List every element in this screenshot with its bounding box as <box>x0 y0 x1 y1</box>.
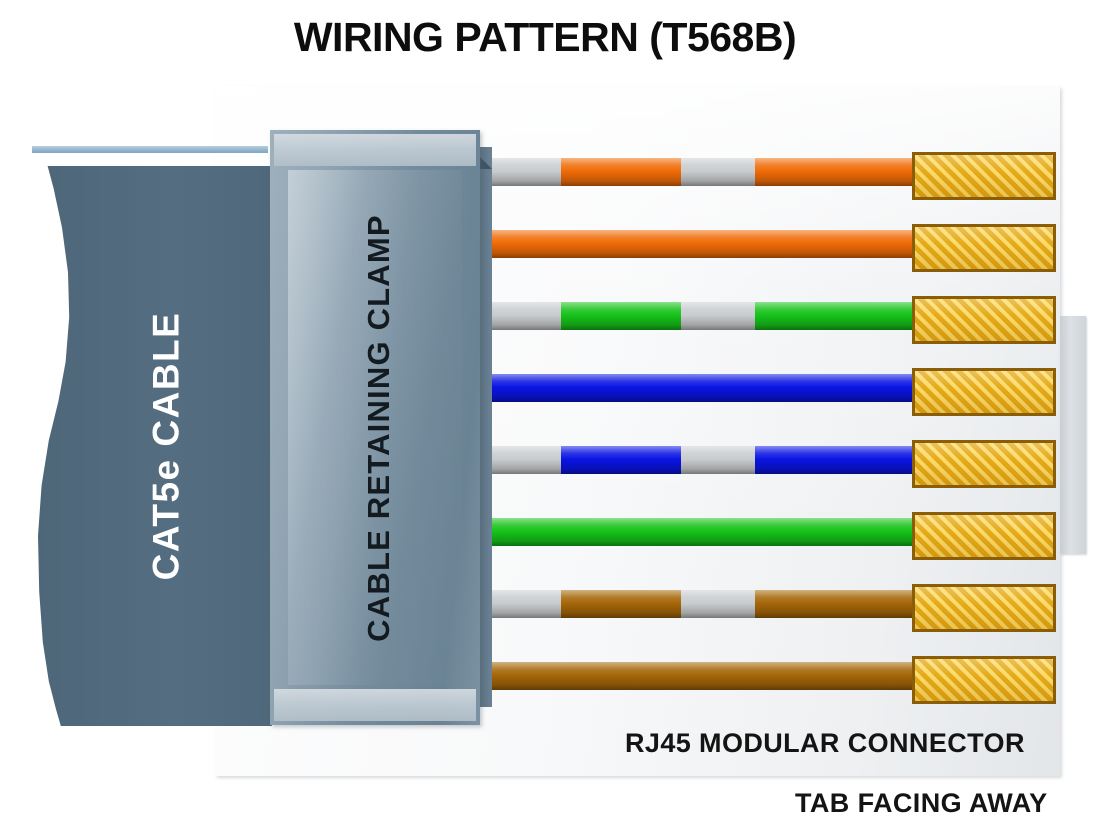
pad-sheen <box>915 587 1053 629</box>
wire-stripe-band-2 <box>755 590 913 618</box>
pad-sheen <box>915 443 1053 485</box>
wire-pin-7 <box>492 590 912 618</box>
gold-contact-pad-pin-7 <box>912 584 1056 632</box>
cable-top-highlight <box>32 146 268 153</box>
gold-contact-pad-pin-3 <box>912 296 1056 344</box>
cable-retaining-clamp <box>270 130 480 725</box>
wire-stripe-band-1 <box>561 302 681 330</box>
gold-contact-pad-pin-1 <box>912 152 1056 200</box>
wire-stripe-band-1 <box>561 590 681 618</box>
wire-pin-3 <box>492 302 912 330</box>
tab-facing-away-caption: TAB FACING AWAY <box>795 788 1048 819</box>
gold-contact-pad-pin-2 <box>912 224 1056 272</box>
gold-contact-pad-pin-6 <box>912 512 1056 560</box>
wire-base-orange <box>492 230 912 258</box>
pad-sheen <box>915 155 1053 197</box>
clamp-band-top <box>274 134 476 166</box>
clamp-band-bottom <box>274 689 476 721</box>
gold-contact-pad-pin-8 <box>912 656 1056 704</box>
pad-sheen <box>915 659 1053 701</box>
pad-sheen <box>915 371 1053 413</box>
wire-base-blue <box>492 374 912 402</box>
wire-stripe-band-1 <box>561 158 681 186</box>
wire-stripe-band-2 <box>755 158 913 186</box>
wire-pin-8 <box>492 662 912 690</box>
wire-pin-5 <box>492 446 912 474</box>
pad-sheen <box>915 515 1053 557</box>
cat5e-cable-jacket <box>32 166 272 726</box>
wire-stripe-band-2 <box>755 302 913 330</box>
pad-sheen <box>915 299 1053 341</box>
gold-contact-pad-pin-4 <box>912 368 1056 416</box>
clamp-face <box>288 170 462 685</box>
page-title: WIRING PATTERN (T568B) <box>0 14 1090 61</box>
rj45-connector-caption: RJ45 MODULAR CONNECTOR <box>625 728 1025 759</box>
wire-stripe-band-2 <box>755 446 913 474</box>
wire-base-green <box>492 518 912 546</box>
connector-latch-tab <box>1060 316 1086 554</box>
wire-pin-6 <box>492 518 912 546</box>
gold-contact-pad-pin-5 <box>912 440 1056 488</box>
wire-pin-1 <box>492 158 912 186</box>
wire-stripe-band-1 <box>561 446 681 474</box>
wire-base-brown <box>492 662 912 690</box>
wire-pin-2 <box>492 230 912 258</box>
wire-pin-4 <box>492 374 912 402</box>
pad-sheen <box>915 227 1053 269</box>
wiring-diagram: WIRING PATTERN (T568B) CAT5e CABLE CABLE… <box>0 0 1120 840</box>
